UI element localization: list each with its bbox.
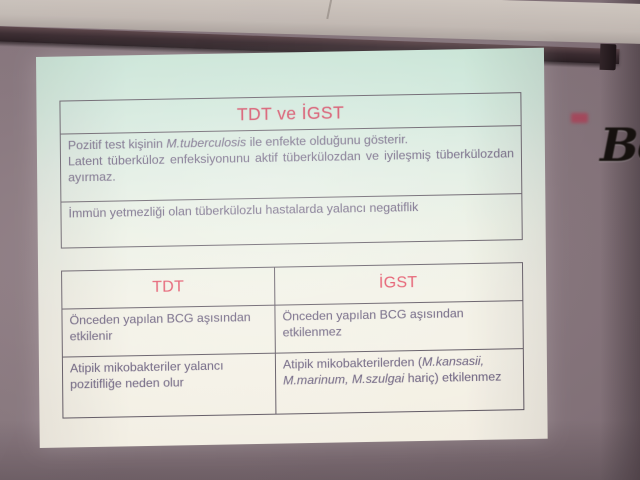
statement-text-a: Pozitif test kişinin [68,137,167,153]
atypical-text-b: hariç) etkilenmez [404,370,501,386]
classroom-photo: Be TDT ve İGST Pozitif test kişinin M.tu… [0,0,640,480]
cell-igst-bcg: Önceden yapılan BCG aşısından etkilenmez [282,304,514,340]
table-row: İmmün yetmezliği olan tüberkülozlu hasta… [61,194,521,247]
column-header-igst: İGST [379,274,418,293]
statement-line-2: Latent tüberküloz enfeksiyonunu aktif tü… [68,145,514,185]
wall-red-mark [571,113,588,123]
projected-slide: TDT ve İGST Pozitif test kişinin M.tuber… [36,48,548,448]
ceiling-seam [326,0,335,19]
table-comparison: TDT İGST Önceden yapılan BCG aşısından e… [61,262,524,418]
wall-right-shadow [600,0,640,480]
species-name-kansasii: M.kansasii, [422,354,484,369]
statement-false-negative: İmmün yetmezliği olan tüberkülozlu hasta… [68,197,514,221]
rail-end-cap [600,44,617,71]
statement-text-b: ile enfekte olduğunu gösterir. [246,132,408,149]
species-name-mtuberculosis: M.tuberculosis [166,135,246,150]
table-row: Önceden yapılan BCG aşısından etkilenir … [62,301,522,357]
cell-igst-atypical: Atipik mikobakterilerden (M.kansasii, M.… [283,352,515,388]
table-summary: TDT ve İGST Pozitif test kişinin M.tuber… [59,92,522,248]
slide-title: TDT ve İGST [237,102,344,125]
cell-tdt-bcg: Önceden yapılan BCG aşısından etkilenir [69,309,267,345]
wall-script-letter: Be [600,118,640,172]
table-row: Pozitif test kişinin M.tuberculosis ile … [61,126,522,202]
species-names-marinum-szulgai: M.marinum, M.szulgai [283,371,404,387]
atypical-text-a: Atipik mikobakterilerden ( [283,355,422,372]
cell-tdt-atypical: Atipik mikobakteriler yalancı pozitifliğ… [70,357,268,393]
column-header-tdt: TDT [152,278,184,297]
table-row: Atipik mikobakteriler yalancı pozitifliğ… [63,349,523,417]
